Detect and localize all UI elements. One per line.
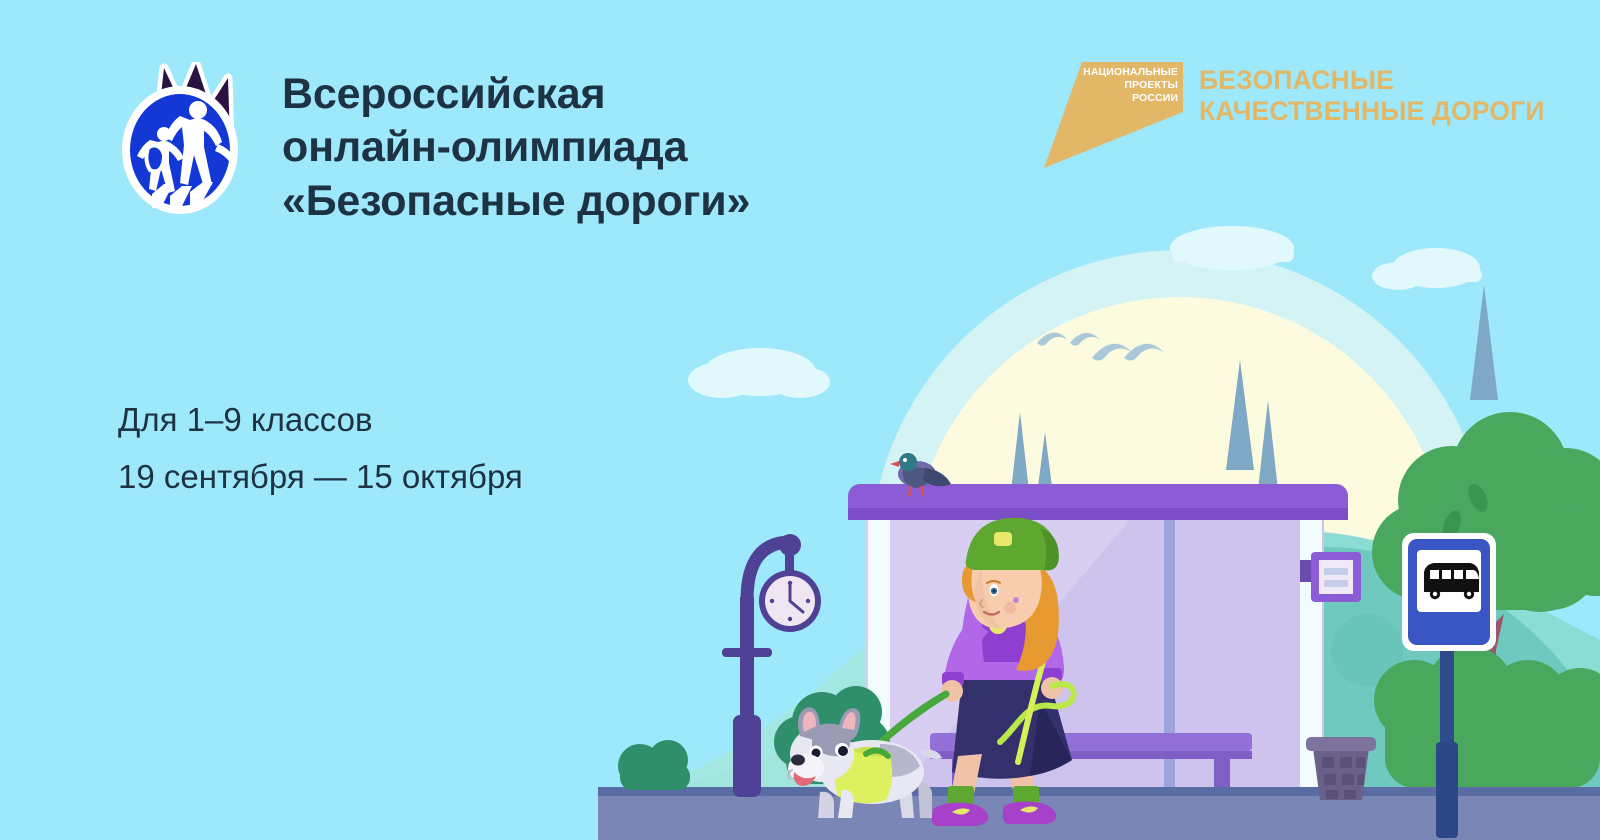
olympiad-logo: [118, 62, 246, 227]
np-slogan: БЕЗОПАСНЫЕ КАЧЕСТВЕННЫЕ ДОРОГИ: [1199, 65, 1545, 126]
cloud-top: [1170, 226, 1294, 270]
dog-eye-right: [838, 746, 848, 756]
girl-hat-patch: [994, 532, 1012, 546]
dog-leg-front-near: [818, 792, 834, 818]
girl-cheek: [1004, 602, 1016, 614]
girl-eye-pupil: [993, 590, 996, 593]
np-line-1: НАЦИОНАЛЬНЫЕ: [1082, 66, 1178, 79]
dates-line: 19 сентября — 15 октября: [118, 449, 523, 506]
header-brand-block: Всероссийская онлайн-олимпиада «Безопасн…: [118, 62, 750, 228]
bus-shelter: [848, 484, 1361, 795]
grades-line: Для 1–9 классов: [118, 392, 523, 449]
dog-nose: [791, 755, 805, 766]
np-flag-text: НАЦИОНАЛЬНЫЕ ПРОЕКТЫ РОССИИ: [1082, 66, 1178, 106]
dog-leg-back-near: [918, 783, 932, 818]
clock-pole-base: [733, 715, 761, 797]
bus-sign-pole-base: [1436, 742, 1458, 838]
bush-far-left: [618, 740, 690, 790]
girl-earring: [1013, 597, 1019, 603]
bus-windows: [1430, 570, 1479, 579]
event-details: Для 1–9 классов 19 сентября — 15 октября: [118, 392, 523, 506]
np-line-2: ПРОЕКТЫ: [1082, 79, 1178, 92]
np-flag-shape: НАЦИОНАЛЬНЫЕ ПРОЕКТЫ РОССИИ: [1038, 60, 1183, 170]
national-projects-logo: НАЦИОНАЛЬНЫЕ ПРОЕКТЫ РОССИИ БЕЗОПАСНЫЕ К…: [1038, 60, 1545, 170]
logo-backpack: [146, 145, 164, 171]
olympiad-promo-banner: Всероссийская онлайн-олимпиада «Безопасн…: [0, 0, 1600, 840]
np-line-3: РОССИИ: [1082, 92, 1178, 105]
shelter-roof-shadow: [848, 508, 1348, 520]
page-title: Всероссийская онлайн-олимпиада «Безопасн…: [282, 68, 750, 228]
clock-pole-collar: [722, 648, 772, 657]
